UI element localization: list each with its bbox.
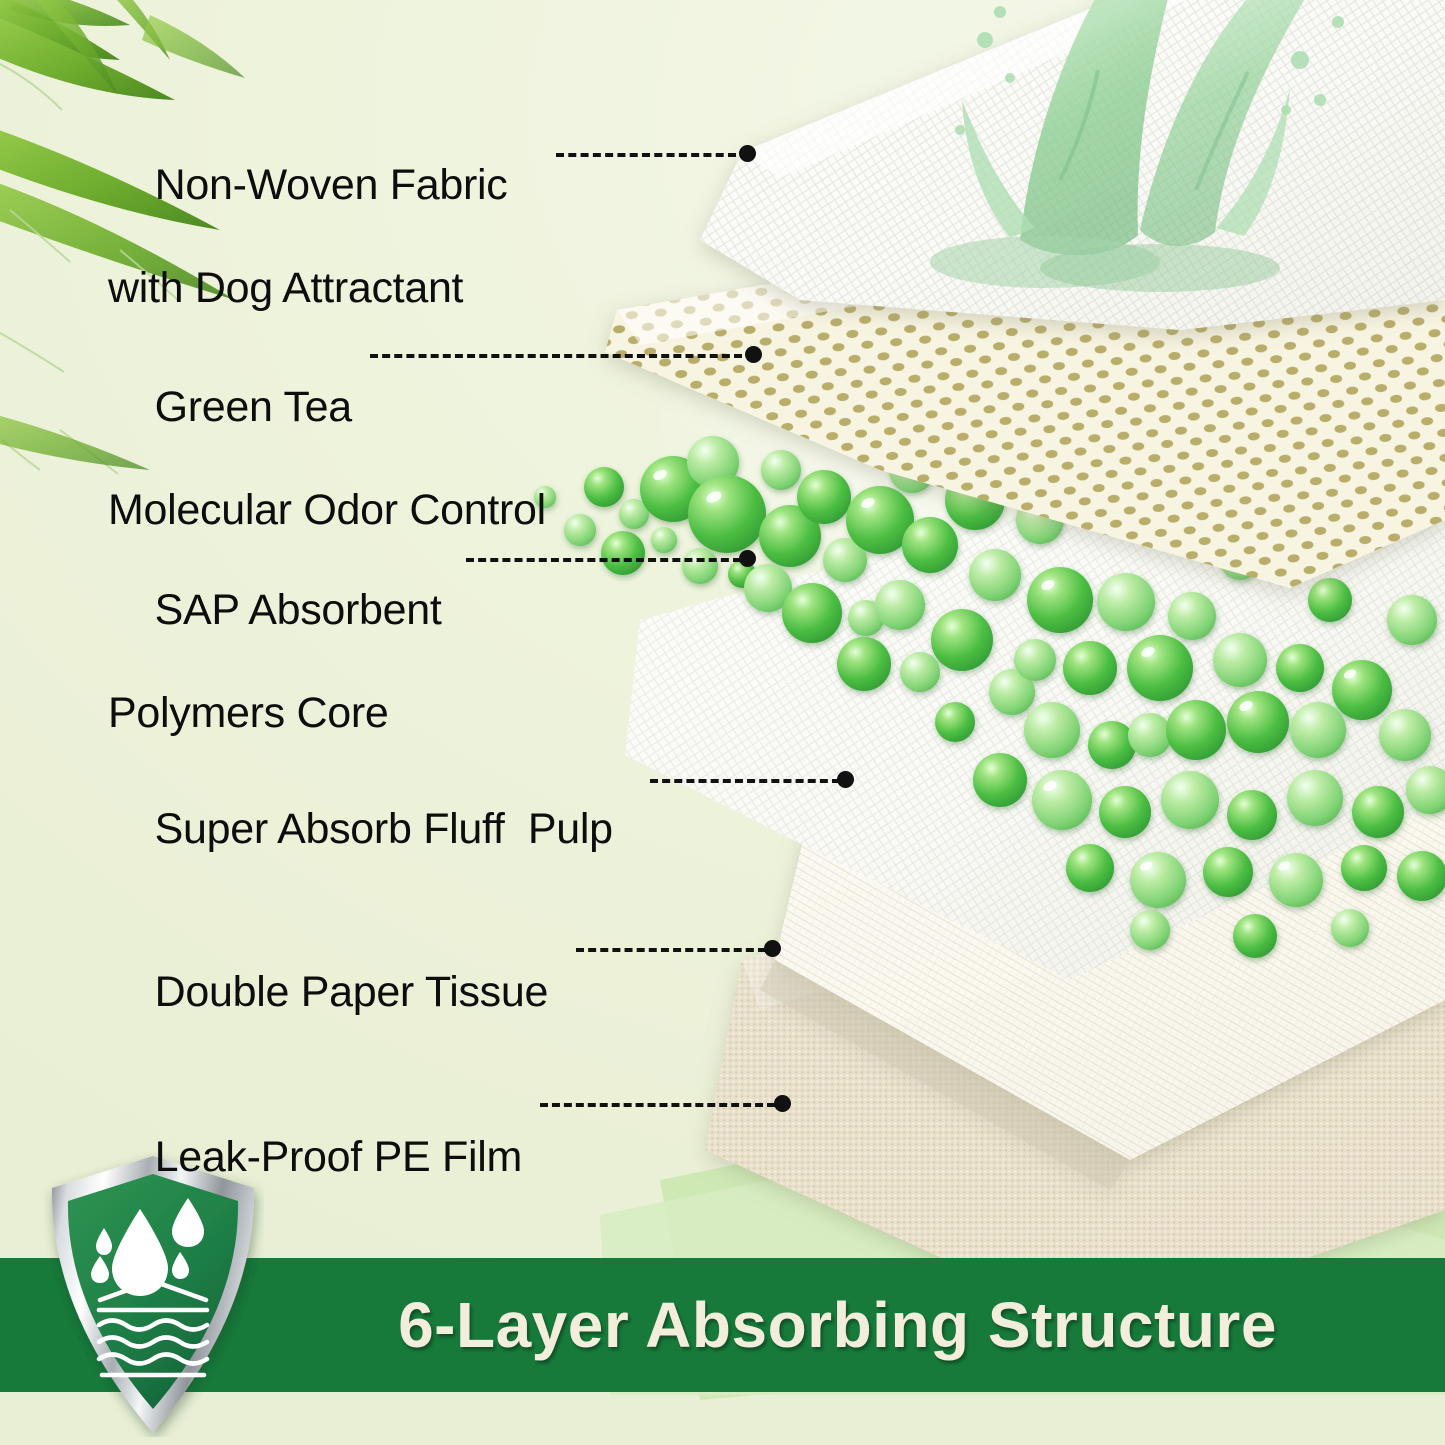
callout-line-1: SAP Absorbent bbox=[155, 586, 442, 634]
infographic-canvas: 6-Layer Absorbing Structure bbox=[0, 0, 1445, 1445]
leader-dot-pe-film bbox=[774, 1095, 791, 1112]
leader-line-paper-tissue bbox=[576, 948, 766, 952]
leader-dot-non-woven-fabric bbox=[739, 145, 756, 162]
callout-label-paper-tissue: Double Paper Tissue bbox=[108, 915, 548, 1070]
callout-line-2: Molecular Odor Control bbox=[108, 485, 546, 537]
callout-line-1: Green Tea bbox=[155, 383, 352, 431]
leader-dot-fluff-pulp bbox=[837, 771, 854, 788]
leader-line-fluff-pulp bbox=[650, 779, 840, 783]
leader-dot-green-tea bbox=[745, 346, 762, 363]
callout-line-1: Double Paper Tissue bbox=[155, 968, 548, 1016]
callout-line-1: Leak-Proof PE Film bbox=[155, 1133, 522, 1181]
callout-line-2: with Dog Attractant bbox=[108, 263, 507, 315]
callout-line-1: Non-Woven Fabric bbox=[155, 161, 508, 209]
leader-dot-paper-tissue bbox=[764, 940, 781, 957]
callout-line-1: Super Absorb Fluff Pulp bbox=[155, 805, 613, 853]
leader-line-non-woven-fabric bbox=[556, 153, 736, 157]
leader-line-pe-film bbox=[540, 1103, 775, 1107]
callout-line-2: Polymers Core bbox=[108, 688, 442, 740]
leader-line-green-tea bbox=[370, 354, 742, 358]
callout-label-pe-film: Leak-Proof PE Film bbox=[108, 1080, 522, 1235]
callout-label-fluff-pulp: Super Absorb Fluff Pulp bbox=[108, 752, 613, 907]
leader-line-sap-core bbox=[466, 558, 741, 562]
leader-dot-sap-core bbox=[739, 550, 756, 567]
